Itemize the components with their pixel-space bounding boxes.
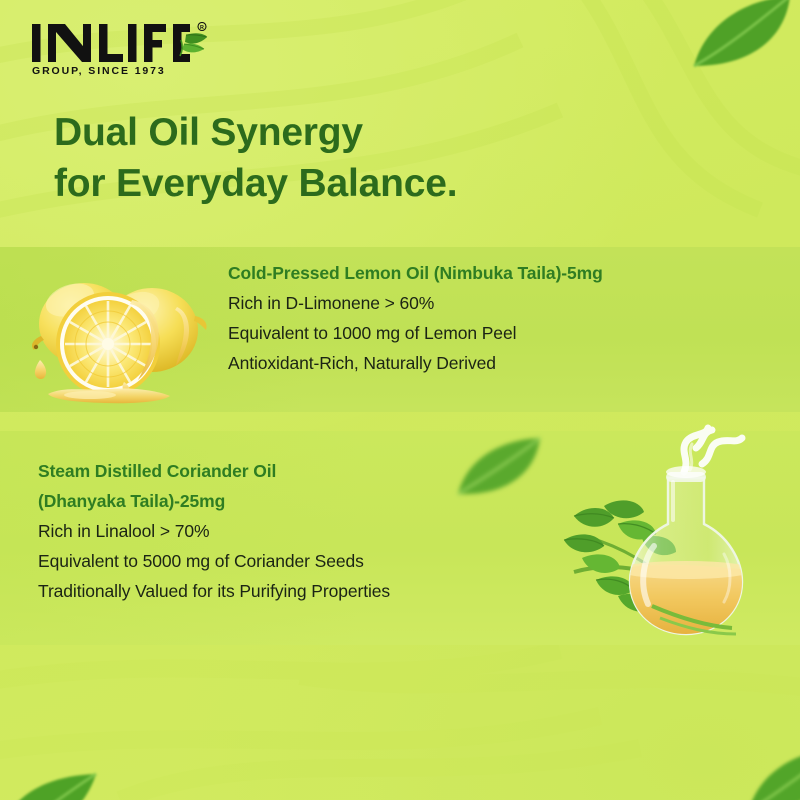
flask-coriander-icon xyxy=(556,420,800,648)
ingredient-title-lemon: Cold-Pressed Lemon Oil (Nimbuka Taila)-5… xyxy=(228,258,788,288)
leaf-bottom-right-icon xyxy=(742,742,800,800)
flask-coriander-illustration xyxy=(556,420,800,648)
ingredient-detail-line: Rich in D-Limonene > 60% xyxy=(228,288,788,318)
leaf-top-right-icon xyxy=(686,0,800,86)
lemon-illustration xyxy=(12,252,212,404)
ingredient-detail-line: Antioxidant-Rich, Naturally Derived xyxy=(228,348,788,378)
svg-text:R: R xyxy=(200,25,204,31)
leaf-middle-icon xyxy=(452,432,548,506)
ingredient-detail-line: Rich in Linalool > 70% xyxy=(38,516,598,546)
leaf-icon xyxy=(180,33,207,56)
brand-logo: R GROUP, SINCE 1973 xyxy=(30,22,210,84)
steam-highlight xyxy=(690,444,692,470)
ingredient-detail-line: Equivalent to 5000 mg of Coriander Seeds xyxy=(38,546,598,576)
ingredient-block-lemon: Cold-Pressed Lemon Oil (Nimbuka Taila)-5… xyxy=(228,258,788,378)
promo-poster: R GROUP, SINCE 1973 Dual Oil Synergy for… xyxy=(0,0,800,800)
headline-line-1: Dual Oil Synergy xyxy=(54,111,363,154)
headline-line-2: for Everyday Balance. xyxy=(54,159,694,210)
leaf-bottom-left-icon xyxy=(0,756,104,800)
brand-tagline: GROUP, SINCE 1973 xyxy=(30,65,210,77)
page-title: Dual Oil Synergy for Everyday Balance. xyxy=(54,108,694,209)
inlife-logotype-icon: R xyxy=(30,22,210,64)
ingredient-detail-line: Equivalent to 1000 mg of Lemon Peel xyxy=(228,318,788,348)
ingredient-detail-line: Traditionally Valued for its Purifying P… xyxy=(38,576,598,606)
registered-mark-icon: R xyxy=(198,23,206,32)
oil-droplet xyxy=(35,360,46,379)
lemon-illustration-icon xyxy=(12,252,212,404)
oil-puddle xyxy=(48,388,170,403)
brand-wordmark: R xyxy=(30,22,210,64)
